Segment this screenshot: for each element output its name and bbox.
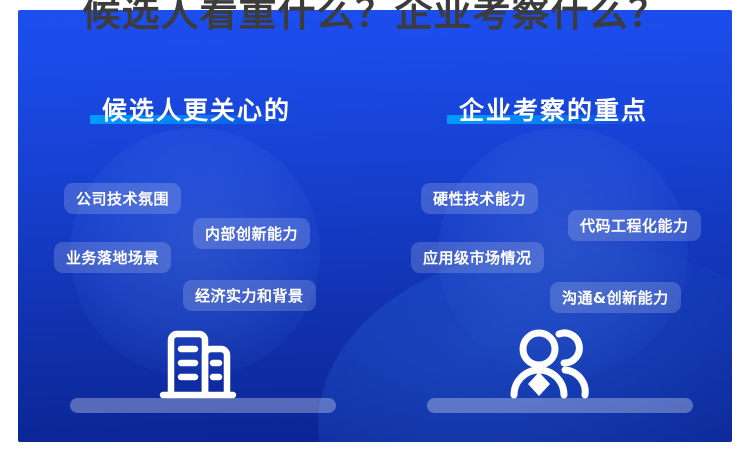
candidate-icon-box: [18, 322, 375, 402]
tag-pill[interactable]: 内部创新能力: [193, 218, 310, 249]
enterprise-heading-wrap: 企业考察的重点: [375, 91, 732, 127]
column-enterprise: 企业考察的重点 硬性技术能力 代码工程化能力 应用级市场情况 沟通&创新能力: [375, 10, 732, 442]
office-building-icon: [149, 322, 245, 402]
tag-pill[interactable]: 公司技术氛围: [64, 183, 181, 214]
right-plinth-bar: [427, 398, 693, 413]
infographic-canvas: 候选人更关心的 公司技术氛围 内部创新能力 业务落地场景 经济实力和背景: [0, 0, 750, 451]
tag-label: 代码工程化能力: [580, 215, 689, 236]
diamond-badge-icon: [528, 372, 550, 396]
left-plinth-bar: [70, 398, 336, 413]
two-people-icon: [499, 322, 609, 402]
enterprise-heading: 企业考察的重点: [455, 91, 652, 127]
candidate-heading: 候选人更关心的: [98, 91, 295, 127]
tag-label: 公司技术氛围: [76, 188, 169, 209]
tag-label: 业务落地场景: [66, 247, 159, 268]
enterprise-icon-box: [375, 322, 732, 402]
candidate-heading-wrap: 候选人更关心的: [18, 91, 375, 127]
tag-pill[interactable]: 经济实力和背景: [183, 280, 316, 311]
tag-label: 应用级市场情况: [423, 247, 532, 268]
tag-label: 内部创新能力: [205, 223, 298, 244]
tag-label: 经济实力和背景: [195, 285, 304, 306]
tag-pill[interactable]: 代码工程化能力: [568, 210, 701, 241]
tag-label: 硬性技术能力: [433, 188, 526, 209]
enterprise-heading-label: 企业考察的重点: [459, 96, 648, 125]
tag-pill[interactable]: 硬性技术能力: [421, 183, 538, 214]
blue-gradient-card: 候选人更关心的 公司技术氛围 内部创新能力 业务落地场景 经济实力和背景: [18, 10, 732, 442]
tag-pill[interactable]: 沟通&创新能力: [550, 282, 681, 313]
tag-pill[interactable]: 业务落地场景: [54, 242, 171, 273]
tag-label: 沟通&创新能力: [562, 287, 669, 308]
tag-pill[interactable]: 应用级市场情况: [411, 242, 544, 273]
candidate-heading-label: 候选人更关心的: [102, 96, 291, 125]
column-candidate: 候选人更关心的 公司技术氛围 内部创新能力 业务落地场景 经济实力和背景: [18, 10, 375, 442]
